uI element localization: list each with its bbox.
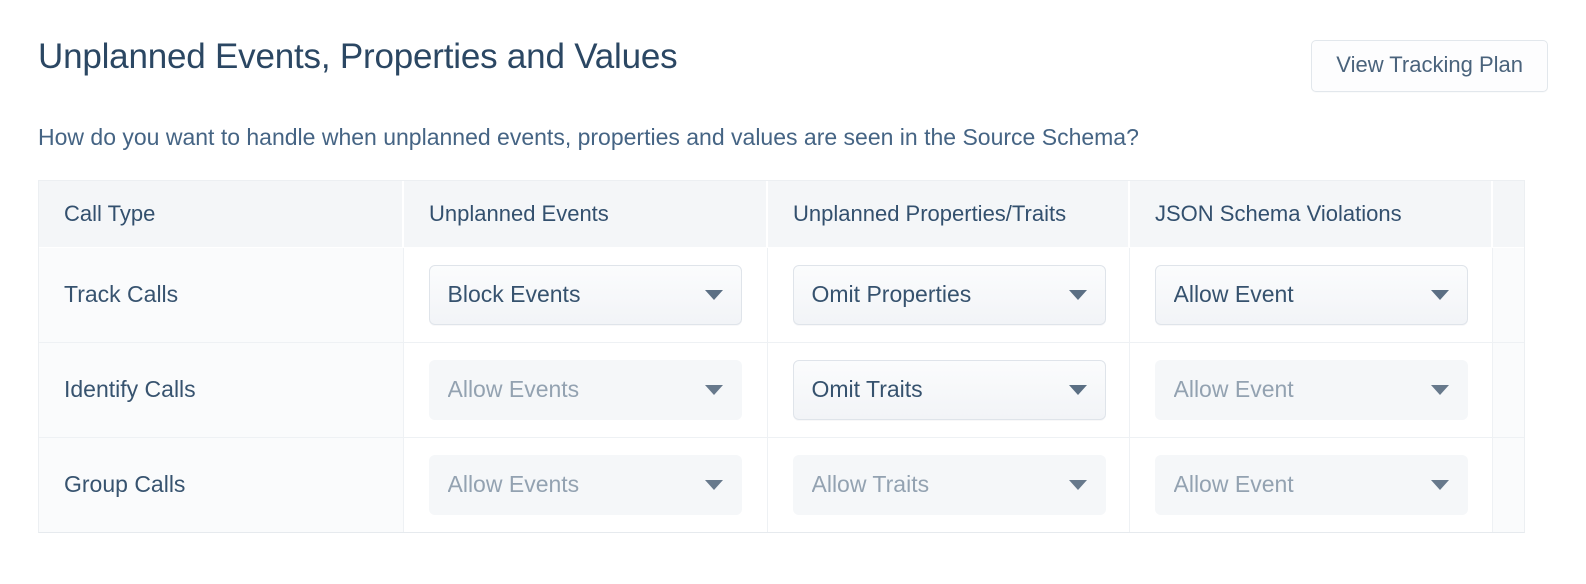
select-value: Omit Traits	[812, 375, 1059, 404]
chevron-down-icon	[1431, 290, 1449, 300]
select-track-unplanned-properties[interactable]: Omit Properties	[793, 265, 1106, 325]
cell-identify-json-violations: Allow Event	[1129, 342, 1492, 437]
page-description: How do you want to handle when unplanned…	[38, 122, 1548, 152]
select-value: Allow Events	[448, 470, 695, 499]
unplanned-handling-table: Call Type Unplanned Events Unplanned Pro…	[38, 180, 1525, 533]
chevron-down-icon	[1069, 290, 1087, 300]
select-value: Block Events	[448, 280, 695, 309]
select-group-unplanned-events: Allow Events	[429, 455, 742, 515]
row-label-identify-calls: Identify Calls	[39, 342, 403, 437]
unplanned-events-settings-page: Unplanned Events, Properties and Values …	[0, 0, 1586, 584]
view-tracking-plan-button[interactable]: View Tracking Plan	[1311, 40, 1548, 92]
cell-track-unplanned-events: Block Events	[403, 247, 767, 342]
table-row: Track Calls Block Events Omit Properties	[39, 247, 1524, 342]
page-header: Unplanned Events, Properties and Values …	[38, 0, 1548, 92]
cell-spacer	[1492, 342, 1524, 437]
cell-group-unplanned-properties: Allow Traits	[767, 437, 1129, 532]
select-group-unplanned-properties: Allow Traits	[793, 455, 1106, 515]
cell-identify-unplanned-events: Allow Events	[403, 342, 767, 437]
select-identify-json-violations: Allow Event	[1155, 360, 1468, 420]
select-identify-unplanned-events: Allow Events	[429, 360, 742, 420]
row-label-track-calls: Track Calls	[39, 247, 403, 342]
column-header-spacer	[1492, 181, 1524, 247]
cell-spacer	[1492, 247, 1524, 342]
chevron-down-icon	[705, 480, 723, 490]
cell-group-json-violations: Allow Event	[1129, 437, 1492, 532]
page-title: Unplanned Events, Properties and Values	[38, 36, 677, 78]
chevron-down-icon	[1069, 385, 1087, 395]
column-header-unplanned-events: Unplanned Events	[403, 181, 767, 247]
select-group-json-violations: Allow Event	[1155, 455, 1468, 515]
chevron-down-icon	[705, 385, 723, 395]
cell-group-unplanned-events: Allow Events	[403, 437, 767, 532]
column-header-json-schema-violations: JSON Schema Violations	[1129, 181, 1492, 247]
select-value: Allow Event	[1174, 280, 1421, 309]
chevron-down-icon	[1431, 480, 1449, 490]
column-header-unplanned-properties-traits: Unplanned Properties/Traits	[767, 181, 1129, 247]
select-value: Allow Event	[1174, 470, 1421, 499]
chevron-down-icon	[1431, 385, 1449, 395]
row-label-group-calls: Group Calls	[39, 437, 403, 532]
cell-identify-unplanned-properties: Omit Traits	[767, 342, 1129, 437]
cell-track-json-violations: Allow Event	[1129, 247, 1492, 342]
cell-track-unplanned-properties: Omit Properties	[767, 247, 1129, 342]
select-track-json-violations[interactable]: Allow Event	[1155, 265, 1468, 325]
chevron-down-icon	[705, 290, 723, 300]
chevron-down-icon	[1069, 480, 1087, 490]
select-value: Allow Events	[448, 375, 695, 404]
cell-spacer	[1492, 437, 1524, 532]
select-track-unplanned-events[interactable]: Block Events	[429, 265, 742, 325]
table-row: Group Calls Allow Events Allow Traits	[39, 437, 1524, 532]
select-value: Omit Properties	[812, 280, 1059, 309]
table-row: Identify Calls Allow Events Omit Traits	[39, 342, 1524, 437]
select-identify-unplanned-properties[interactable]: Omit Traits	[793, 360, 1106, 420]
table-header-row: Call Type Unplanned Events Unplanned Pro…	[39, 181, 1524, 247]
column-header-call-type: Call Type	[39, 181, 403, 247]
select-value: Allow Event	[1174, 375, 1421, 404]
select-value: Allow Traits	[812, 470, 1059, 499]
